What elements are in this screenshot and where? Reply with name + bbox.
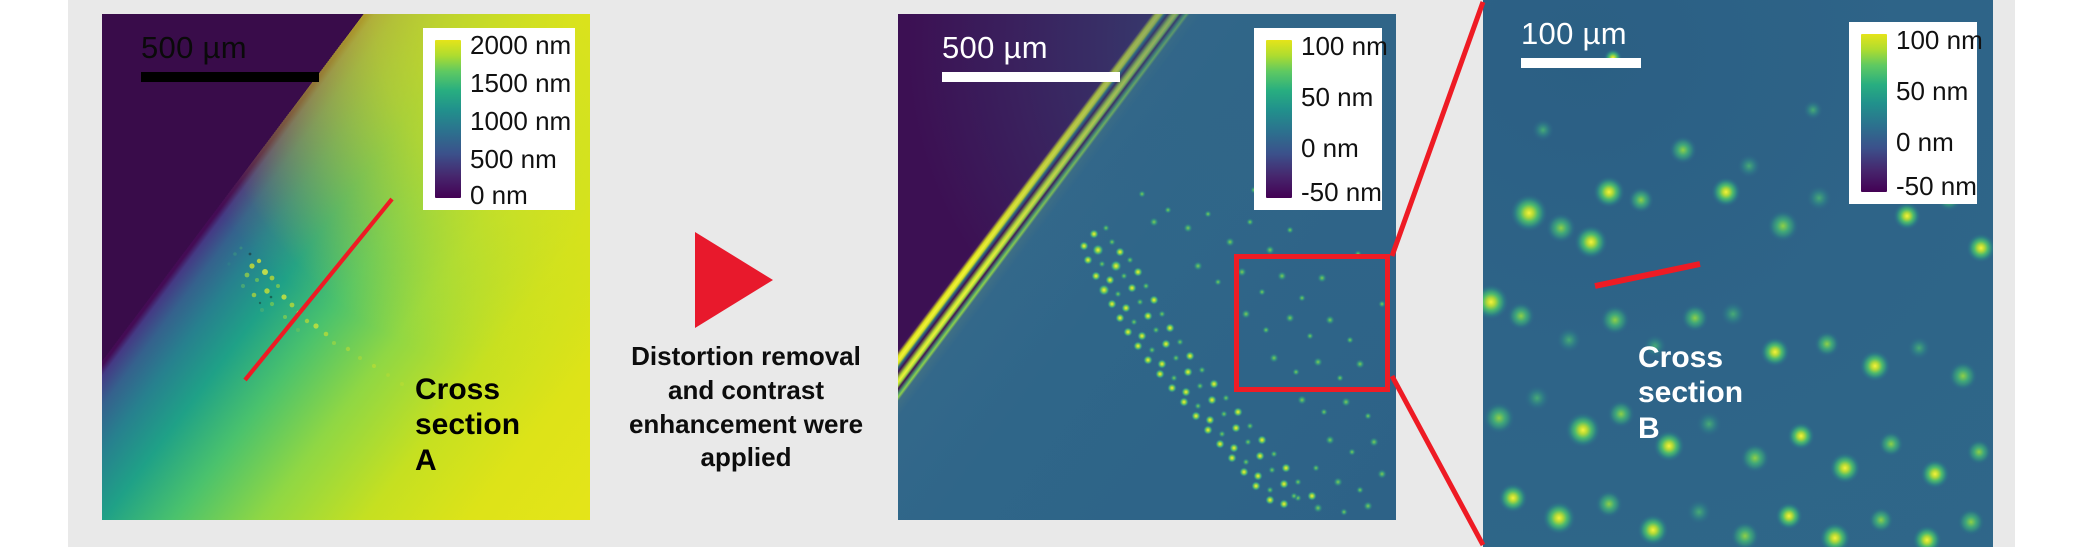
- colorbar-gradient-strip: [1266, 40, 1292, 198]
- colorbar-tick: -50 nm: [1301, 179, 1382, 205]
- colorbar-panel2: 100 nm 50 nm 0 nm -50 nm: [1254, 28, 1382, 210]
- panel-corrected-topography[interactable]: 500 µm 100 nm 50 nm 0 nm -50 nm: [898, 14, 1396, 520]
- transition-caption: Distortion removal and contrast enhancem…: [596, 340, 896, 475]
- scalebar-label: 500 µm: [942, 32, 1120, 63]
- cross-section-line-b: [1483, 0, 1993, 547]
- figure-root: 500 µm 2000 nm 1500 nm 1000 nm 500 nm 0 …: [0, 0, 2083, 547]
- triangle-right-icon: [695, 232, 773, 328]
- colorbar-tick: 50 nm: [1301, 84, 1373, 110]
- transition-annotation-group: Distortion removal and contrast enhancem…: [596, 0, 896, 547]
- colorbar-tick: 100 nm: [1301, 33, 1388, 59]
- scalebar-rule: [942, 72, 1120, 82]
- panel-raw-topography[interactable]: 500 µm 2000 nm 1500 nm 1000 nm 500 nm 0 …: [102, 14, 590, 520]
- colorbar-tick: 0 nm: [1301, 135, 1359, 161]
- panel-zoomed-detail[interactable]: 100 µm 100 nm 50 nm 0 nm -50 nm Cross se…: [1483, 0, 1993, 547]
- zoom-region-box[interactable]: [1234, 254, 1390, 392]
- colorbar-tick-labels: 100 nm 50 nm 0 nm -50 nm: [1301, 40, 1368, 198]
- scalebar-panel2: 500 µm: [942, 32, 1120, 82]
- cross-section-b-label: Cross section B: [1638, 340, 1798, 446]
- cross-section-a-label: Cross section A: [415, 372, 565, 478]
